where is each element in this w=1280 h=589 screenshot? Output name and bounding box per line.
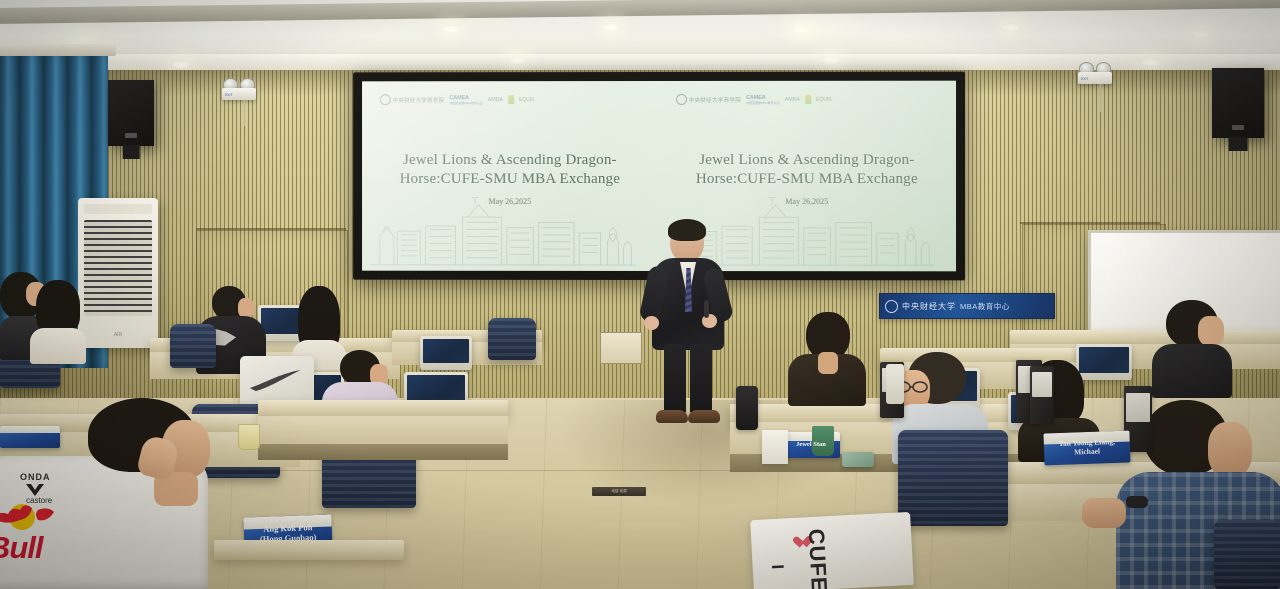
emergency-light-body: EXIT [222, 88, 256, 100]
slide-panel-left: 中央财经大学商学院 CAMEA 中国高质量MBA教育认证 AMBA EQUIS … [362, 81, 658, 271]
university-seal-icon [885, 300, 898, 313]
desk-monitor [420, 336, 472, 370]
emergency-light-label: EXIT [1081, 77, 1089, 81]
ac-brand-label: AIR [114, 332, 122, 338]
cufe-seal-icon [676, 94, 687, 105]
air-conditioner-unit: AIR [78, 198, 158, 348]
attendee-neck [818, 352, 838, 374]
redbull-wordmark: dBull [0, 530, 43, 566]
presenter-hair [668, 219, 706, 241]
slide-title-line1: Jewel Lions & Ascending Dragon- [383, 151, 638, 170]
speaker-badge [125, 133, 137, 138]
nike-swoosh-icon [248, 370, 304, 394]
camea-sublabel: 中国高质量MBA教育认证 [746, 101, 780, 105]
downlight-icon [170, 60, 192, 69]
attendee-front-left-b [30, 280, 86, 362]
downlight-icon [72, 34, 94, 43]
cufe-tote-bag: I CUFE [750, 512, 914, 589]
cufe-name-cn: 中央财经大学商学院 [393, 96, 445, 104]
campus-line-art-left [371, 187, 636, 267]
wall-speaker-left [108, 80, 154, 146]
downlight-icon [1190, 30, 1212, 39]
presenter-left-shoe [656, 410, 688, 423]
curtain-rod [0, 44, 116, 56]
amba-logo: AMBA [488, 97, 503, 103]
water-bottle [886, 364, 904, 404]
slide-title-line1: Jewel Lions & Ascending Dragon- [679, 151, 935, 170]
placard-text: Jewel Stan [796, 441, 826, 448]
attendee-top [30, 328, 86, 364]
wall-outlet-panel [600, 332, 642, 364]
ac-vent-top [84, 204, 152, 214]
cufe-seal-icon [380, 95, 391, 106]
camea-sublabel: 中国高质量MBA教育认证 [449, 101, 482, 105]
classroom-chair[interactable] [170, 324, 216, 368]
tote-label: CUFE [803, 528, 832, 589]
presenter [642, 222, 734, 430]
downlight-glow [760, 12, 880, 48]
attendee-hair [36, 280, 80, 334]
cufe-logo: 中央财经大学商学院 [380, 94, 445, 105]
attendee-face [238, 298, 254, 318]
ac-grille [84, 220, 152, 316]
accreditation-bar-icon [508, 95, 514, 104]
presenter-left-leg [664, 344, 686, 414]
attendee-torso [1152, 344, 1232, 398]
thermos-bottle [736, 386, 758, 430]
attendee-face [1208, 422, 1252, 478]
downlight-icon [506, 56, 528, 65]
cufe-logo: 中央财经大学商学院 [676, 94, 741, 105]
podium-banner: 中央财经大学 MBA教育中心 [879, 293, 1055, 319]
wall-speaker-right [1212, 68, 1264, 138]
placard-name: Jewel Stan [796, 441, 826, 448]
attendee-face [1198, 316, 1224, 346]
smartphone[interactable] [842, 452, 874, 467]
placard-text: Tan Yoong Liang, Michael [1059, 438, 1116, 457]
desk-front-row1-left [214, 540, 404, 560]
redbull-bull-icon [0, 502, 58, 532]
emergency-light-cord [244, 100, 245, 126]
emergency-light-label: EXIT [225, 93, 233, 97]
attendee-black-top [788, 312, 866, 404]
slide-title-right: Jewel Lions & Ascending Dragon- Horse:CU… [679, 151, 935, 189]
camea-label: CAMEA [746, 95, 766, 101]
slide-logo-row: 中央财经大学商学院 CAMEA 中国高质量MBA教育认证 AMBA EQUIS [676, 94, 832, 105]
desk-shelf-shadow [258, 444, 508, 460]
camea-logo: CAMEA 中国高质量MBA教育认证 [449, 95, 482, 105]
gift-box-label [1032, 372, 1052, 398]
downlight-icon [440, 25, 462, 34]
downlight-icon [1000, 23, 1022, 32]
downlight-icon [600, 23, 622, 32]
presenter-right-leg [690, 344, 712, 414]
gift-box [1030, 366, 1054, 424]
gift-box-label [1126, 393, 1150, 422]
banner-dept-name: MBA教育中心 [960, 301, 1010, 312]
honda-logo: ONDA [20, 472, 51, 482]
floor-power-plate[interactable]: 地插 电源 [592, 487, 646, 496]
white-box [762, 430, 788, 464]
desk-front-row2-left-b [258, 416, 508, 447]
placard-header-strip [0, 426, 60, 433]
wristwatch-icon [1126, 496, 1148, 508]
banner-org-name: 中央财经大学 [902, 301, 956, 312]
monitor-screen [423, 339, 469, 363]
cufe-name-cn: 中央财经大学商学院 [689, 96, 741, 104]
emergency-light-body: EXIT [1078, 72, 1112, 84]
accreditation-bar-icon [805, 95, 811, 104]
camea-label: CAMEA [449, 95, 468, 101]
presenter-right-shoe [688, 410, 720, 423]
name-placard [0, 426, 60, 448]
downlight-icon [820, 56, 842, 65]
emergency-light-left: EXIT [222, 78, 256, 100]
equis-logo: EQUIS [816, 97, 832, 103]
tote-prefix: I [767, 564, 787, 570]
classroom-chair[interactable] [488, 318, 536, 360]
castore-mark-icon [24, 482, 46, 498]
classroom-chair[interactable] [898, 430, 1008, 526]
attendee-far-right [1152, 300, 1232, 396]
name-placard-tan-yoong-liang: Tan Yoong Liang, Michael [1043, 431, 1130, 466]
classroom-chair[interactable] [1214, 520, 1280, 589]
attendee-hand [1082, 498, 1126, 528]
paper-cup [238, 424, 260, 450]
equis-logo: EQUIS [519, 97, 535, 103]
slide-title-left: Jewel Lions & Ascending Dragon- Horse:CU… [383, 151, 638, 189]
downlight-icon [1140, 58, 1162, 67]
speaker-badge [1232, 125, 1244, 130]
presenter-left-hand [644, 316, 659, 330]
microphone-icon[interactable] [704, 300, 709, 318]
classroom-photo: EXIT EXIT AIR 中央财经大学商学院 [0, 0, 1280, 589]
emergency-light-cord [1100, 84, 1101, 112]
emergency-light-right: EXIT [1078, 62, 1112, 84]
slide-logo-row: 中央财经大学商学院 CAMEA 中国高质量MBA教育认证 AMBA EQUIS [380, 94, 535, 105]
amba-logo: AMBA [785, 97, 800, 103]
camea-logo: CAMEA 中国高质量MBA教育认证 [746, 95, 780, 105]
